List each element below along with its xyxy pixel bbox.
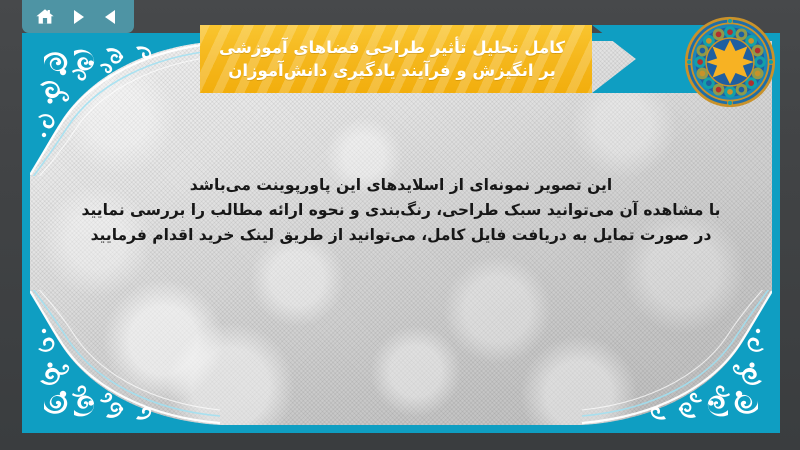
- arabesque-flourish-bottom-left-icon: [30, 290, 220, 425]
- title-banner: کامل تحلیل تأثیر طراحی فضاهای آموزشی بر …: [200, 25, 714, 93]
- title-line-2: بر انگیزش و فرآیند یادگیری دانش‌آموزان: [228, 59, 556, 82]
- slide-canvas: این تصویر نمونه‌ای از اسلایدهای این پاور…: [0, 0, 800, 450]
- body-line-1: این تصویر نمونه‌ای از اسلایدهای این پاور…: [66, 173, 736, 198]
- persian-medallion-icon: [684, 16, 776, 108]
- triangle-left-icon: [102, 8, 120, 26]
- body-text-block: این تصویر نمونه‌ای از اسلایدهای این پاور…: [66, 173, 736, 248]
- back-button[interactable]: [98, 5, 124, 29]
- title-banner-body: کامل تحلیل تأثیر طراحی فضاهای آموزشی بر …: [200, 25, 592, 93]
- home-icon: [35, 7, 55, 26]
- triangle-right-icon: [69, 8, 87, 26]
- forward-button[interactable]: [65, 5, 91, 29]
- navigation-bar: [22, 0, 134, 33]
- arabesque-flourish-bottom-right-icon: [582, 290, 772, 425]
- slide-frame: این تصویر نمونه‌ای از اسلایدهای این پاور…: [22, 33, 780, 433]
- slide-content-panel: این تصویر نمونه‌ای از اسلایدهای این پاور…: [30, 41, 772, 425]
- body-line-3: در صورت تمایل به دریافت فایل کامل، می‌تو…: [66, 223, 736, 248]
- home-button[interactable]: [32, 5, 58, 29]
- title-line-1: کامل تحلیل تأثیر طراحی فضاهای آموزشی: [219, 36, 565, 59]
- body-line-2: با مشاهده آن می‌توانید سبک طراحی، رنگ‌بن…: [66, 198, 736, 223]
- arabesque-flourish-top-left-icon: [30, 41, 220, 176]
